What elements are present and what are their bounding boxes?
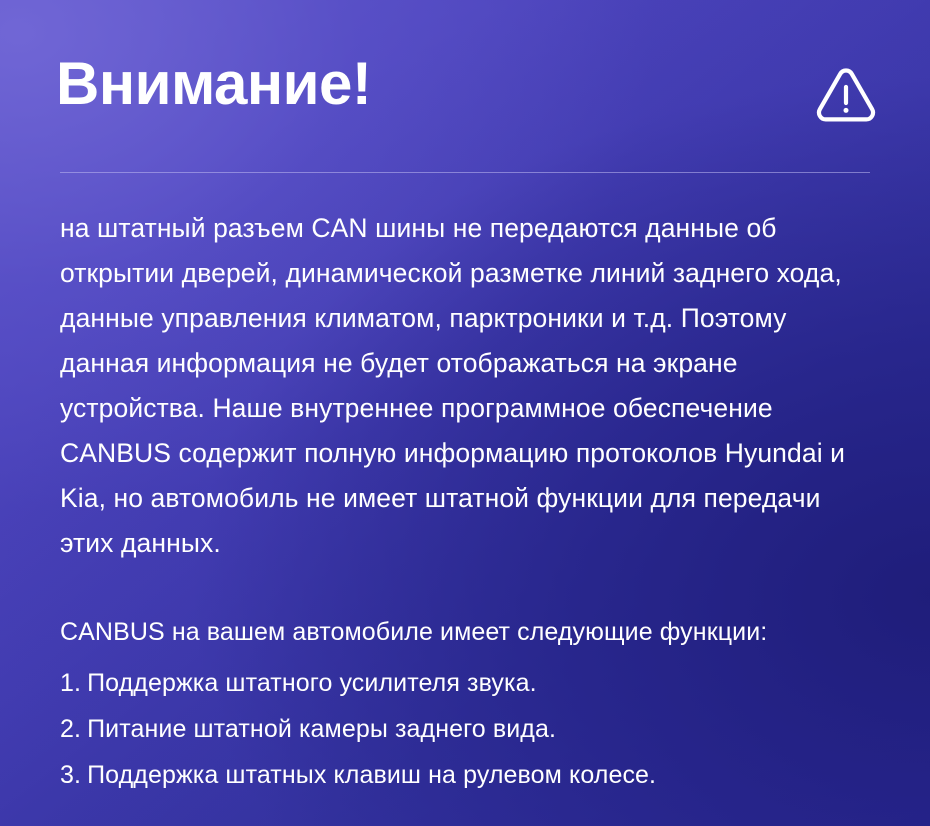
banner-body: на штатный разъем CAN шины не передаются… <box>60 202 878 798</box>
list-item-number: 3. <box>60 761 81 789</box>
banner-header: Внимание! <box>0 0 930 148</box>
list-item: 2.Питание штатной камеры заднего вида. <box>60 706 878 752</box>
list-item-label: Поддержка штатного усилителя звука. <box>87 669 537 697</box>
list-item: 1.Поддержка штатного усилителя звука. <box>60 660 878 706</box>
list-item: 3.Поддержка штатных клавиш на рулевом ко… <box>60 752 878 798</box>
list-item-label: Питание штатной камеры заднего вида. <box>87 715 556 743</box>
list-item-number: 1. <box>60 669 81 697</box>
list-item-label: Поддержка штатных клавиш на рулевом коле… <box>87 761 656 789</box>
page-title: Внимание! <box>56 54 371 114</box>
feature-list: 1.Поддержка штатного усилителя звука. 2.… <box>60 660 878 798</box>
feature-list-intro: CANBUS на вашем автомобиле имеет следующ… <box>60 610 878 654</box>
header-divider <box>60 172 870 173</box>
feature-list-block: CANBUS на вашем автомобиле имеет следующ… <box>60 610 878 798</box>
warning-paragraph: на штатный разъем CAN шины не передаются… <box>60 202 878 566</box>
list-item-number: 2. <box>60 715 81 743</box>
warning-banner: Внимание! на штатный разъем CAN шины не … <box>0 0 930 826</box>
warning-triangle-icon <box>814 62 878 126</box>
